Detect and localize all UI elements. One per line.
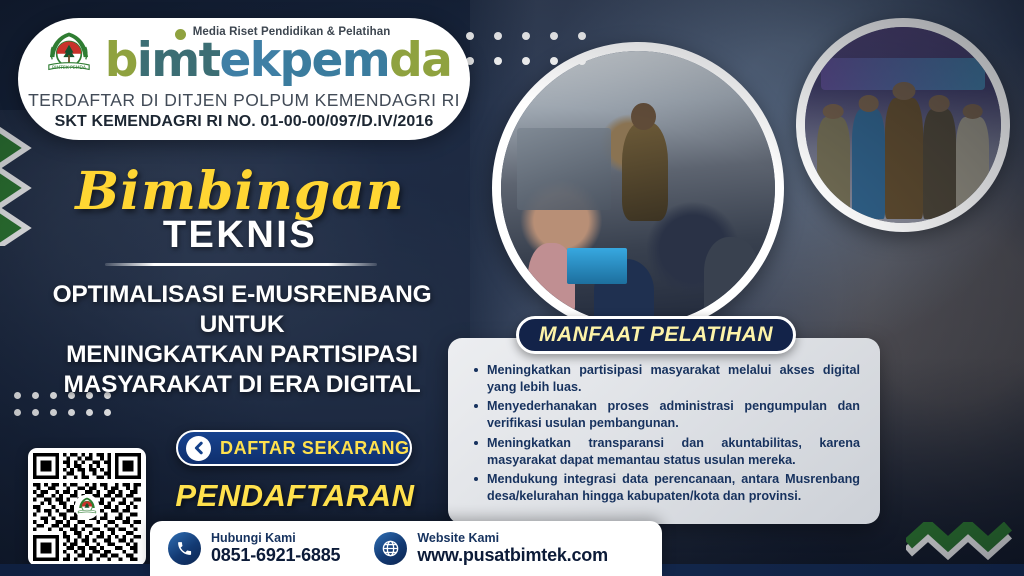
contact-footer: Hubungi Kami 0851-6921-6885 Website Kami… [150,521,662,576]
eyebrow-heading: Bimbingan [40,166,440,218]
brand-logo-card: BIMTEK PEMDA Media Riset Pendidikan & Pe… [18,18,470,140]
page-title: TEKNIS [40,214,440,257]
title-divider [105,263,377,266]
brand-letters-da: da [389,33,451,88]
benefits-badge-label: MANFAAT PELATIHAN [539,323,773,347]
group-person-1 [817,117,850,219]
projector-screen [517,128,610,210]
benefits-panel: Meningkatkan partisipasi masyarakat mela… [448,338,880,524]
globe-icon [374,532,407,565]
svg-text:BIMTEK PEMDA: BIMTEK PEMDA [52,65,87,71]
benefits-list: Meningkatkan partisipasi masyarakat mela… [462,362,866,505]
benefit-item: Menyederhanakan proses administrasi peng… [472,398,860,431]
dot-grid-top [466,32,606,82]
brand-letters-ek: ek [220,33,280,88]
indonesia-government-emblem-icon: BIMTEK PEMDA [41,28,97,84]
group-photo-circle [796,18,1010,232]
qr-center-emblem-icon [74,494,100,520]
group-photo-image [805,27,1001,223]
registration-qr-code[interactable] [28,448,146,566]
brand-logo-row: BIMTEK PEMDA Media Riset Pendidikan & Pe… [37,27,452,85]
brand-accent-dot [175,29,186,40]
brand-word-row: bimtekpemda [105,37,452,84]
brand-letter-b: b [105,33,137,88]
contact-phone-value: 0851-6921-6885 [211,545,340,566]
benefits-badge: MANFAAT PELATIHAN [516,316,796,354]
subtitle-line-2: MENINGKATKAN PARTISIPASI [12,340,472,370]
benefit-item: Mendukung integrasi data perencanaan, an… [472,471,860,504]
group-person-5 [956,117,989,219]
qr-matrix [33,453,141,561]
contact-website-label: Website Kami [417,531,608,545]
brand-tagline: Media Riset Pendidikan & Pelatihan [193,26,391,38]
subtitle: OPTIMALISASI E-MUSRENBANG UNTUK MENINGKA… [12,280,472,400]
contact-website[interactable]: Website Kami www.pusatbimtek.com [374,531,608,566]
laptop-screen [567,248,627,284]
seminar-photo-circle [492,42,784,334]
subtitle-line-1: OPTIMALISASI E-MUSRENBANG UNTUK [12,280,472,340]
contact-phone-text: Hubungi Kami 0851-6921-6885 [211,531,340,566]
contact-website-text: Website Kami www.pusatbimtek.com [417,531,608,566]
zigzag-bottom-right-decoration [906,522,1016,564]
brand-letters-pem: pem [279,33,389,88]
registration-line-1: TERDAFTAR DI DITJEN POLPUM KEMENDAGRI RI [28,90,460,111]
speaker-head [631,103,656,130]
contact-phone[interactable]: Hubungi Kami 0851-6921-6885 [168,531,340,566]
group-person-3 [885,98,922,220]
flyer-canvas: BIMTEK PEMDA Media Riset Pendidikan & Pe… [0,0,1024,576]
register-now-button[interactable]: DAFTAR SEKARANG [176,430,412,466]
phone-icon [168,532,201,565]
speaker-figure [622,122,669,221]
benefit-item: Meningkatkan transparansi dan akuntabili… [472,435,860,468]
contact-phone-label: Hubungi Kami [211,531,340,545]
group-person-4 [923,109,956,219]
brand-wordmark: Media Riset Pendidikan & Pelatihan bimte… [105,28,452,84]
seminar-photo-image [501,51,775,325]
subtitle-line-3: MASYARAKAT DI ERA DIGITAL [12,370,472,400]
benefit-item: Meningkatkan partisipasi masyarakat mela… [472,362,860,395]
register-now-label: DAFTAR SEKARANG [220,438,410,459]
chevron-left-icon [186,436,211,461]
contact-website-value: www.pusatbimtek.com [417,545,608,566]
audience-figure-3 [704,237,759,314]
registration-line-2: SKT KEMENDAGRI RI NO. 01-00-00/097/D.IV/… [55,113,434,131]
group-person-2 [852,109,885,219]
brand-letters-imt: imt [137,33,220,88]
registration-heading: PENDAFTARAN [150,478,440,514]
